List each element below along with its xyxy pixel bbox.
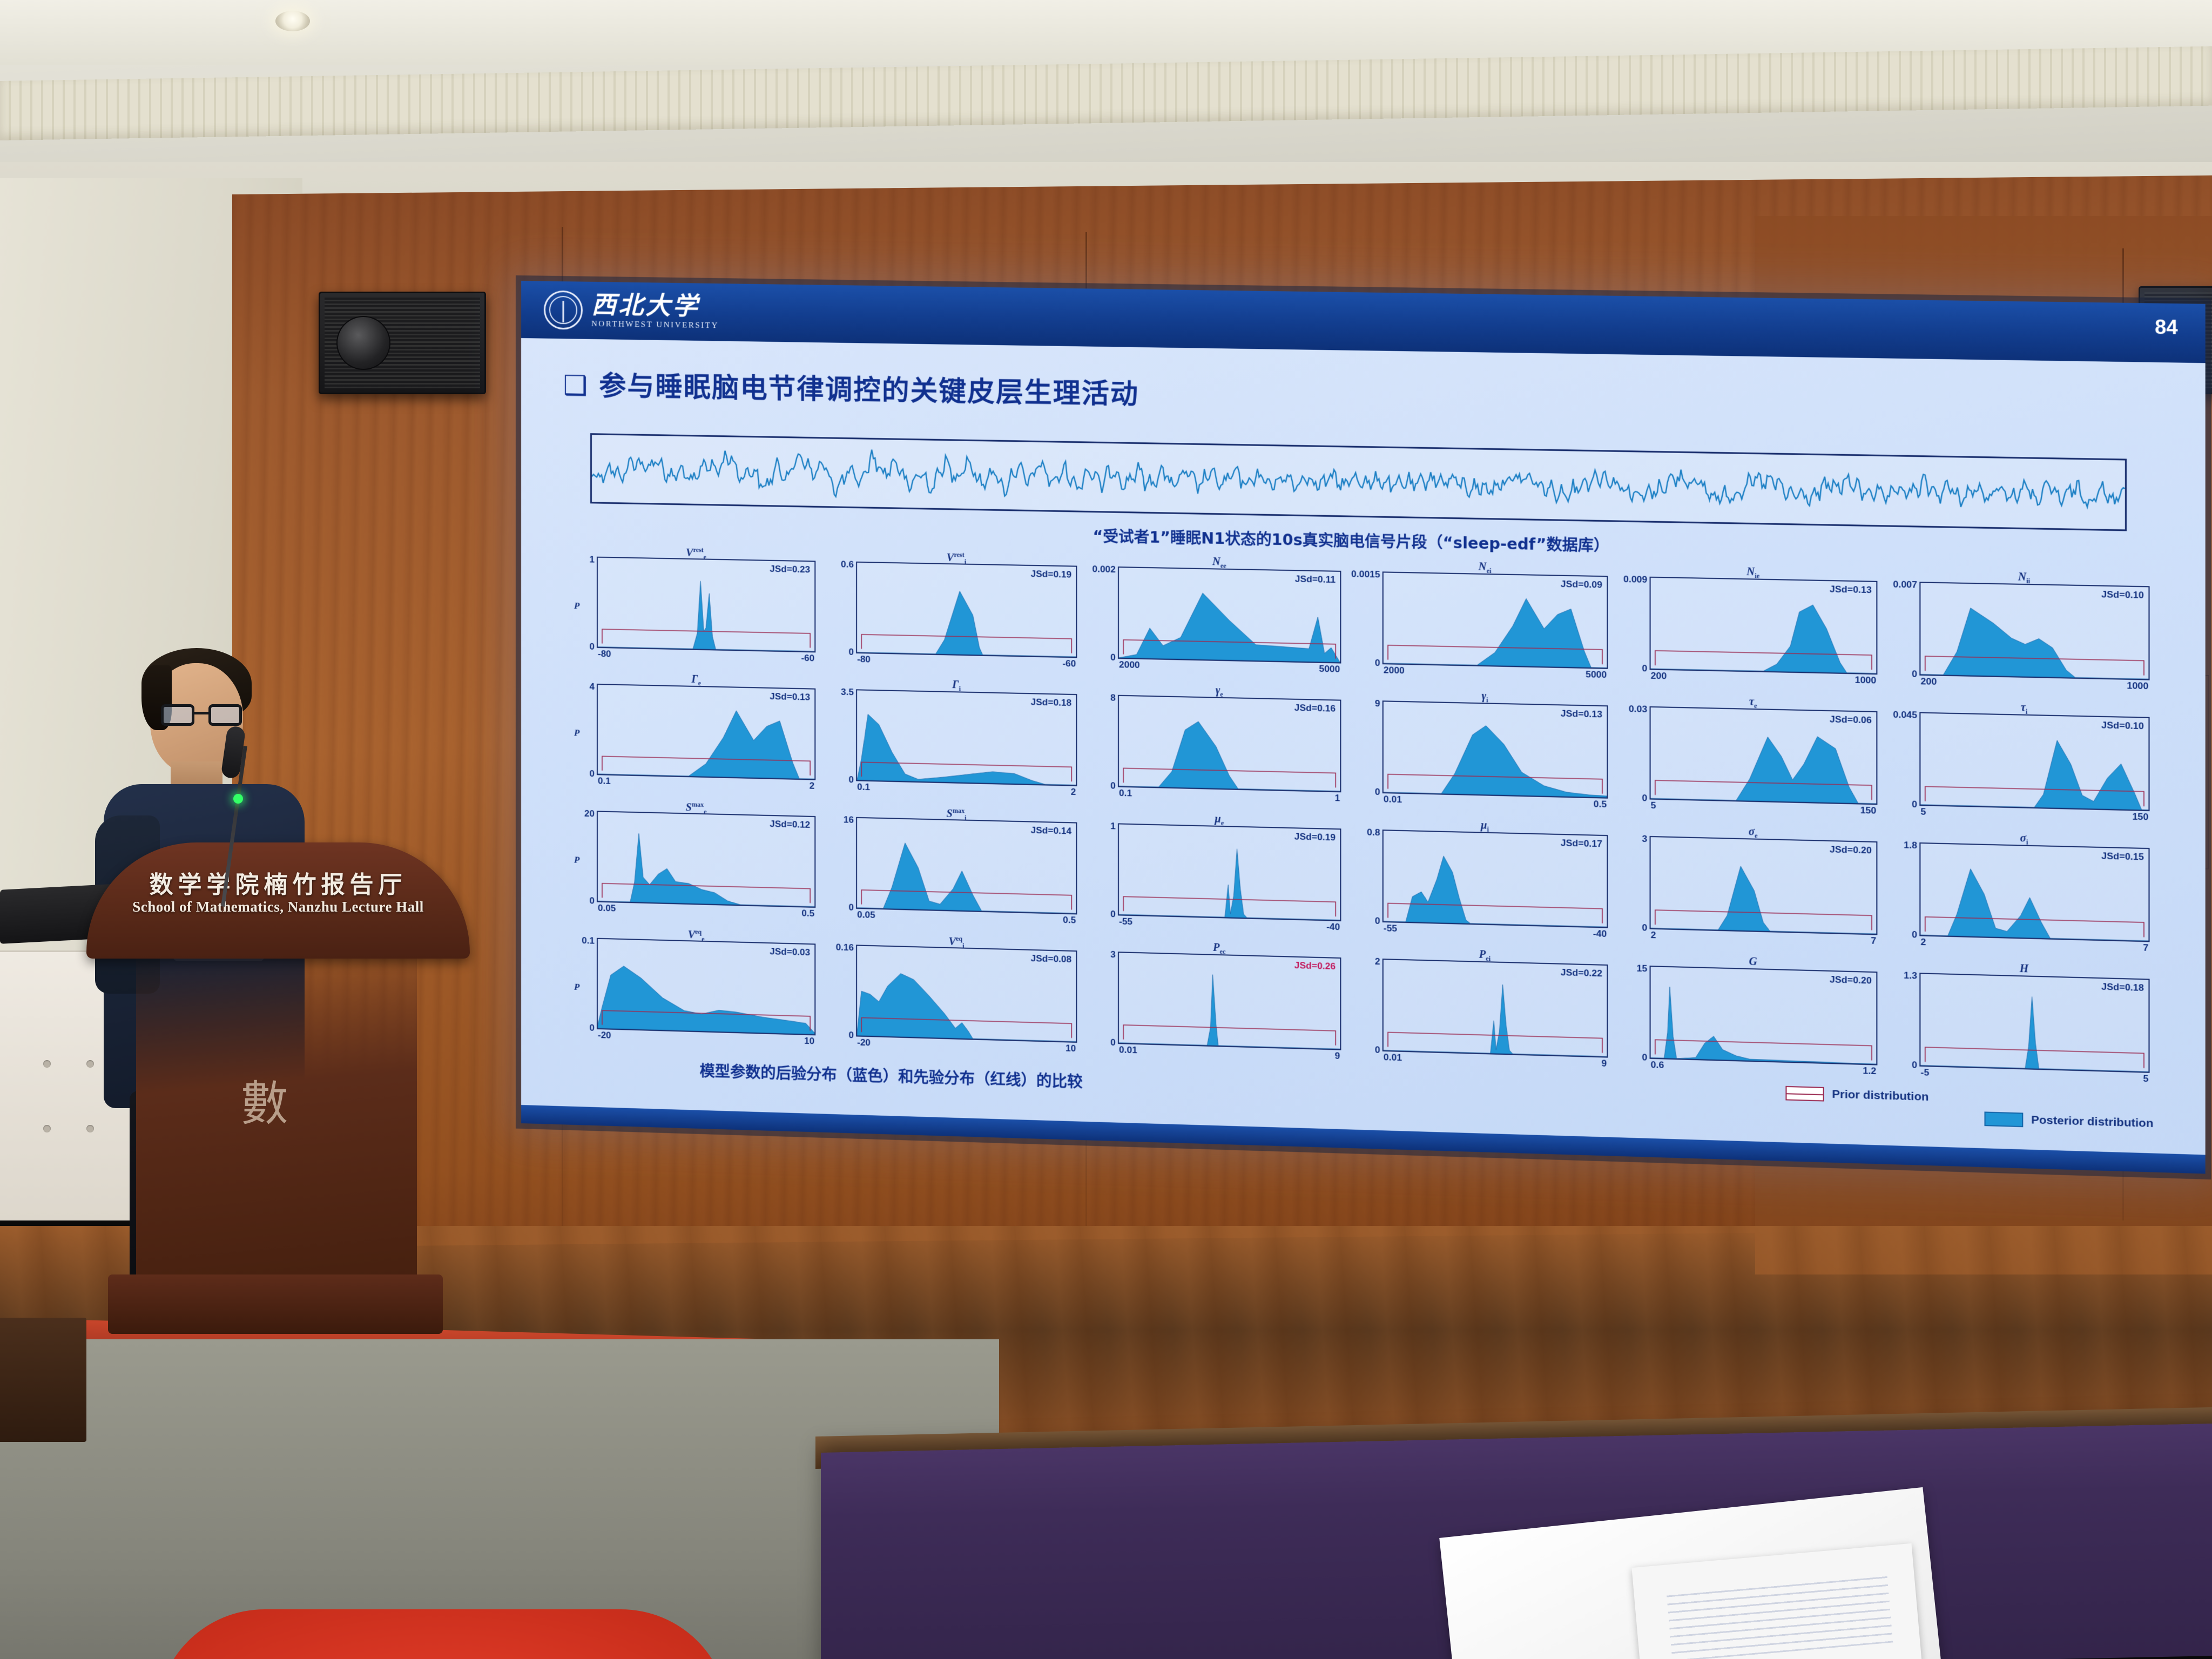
x-axis-max-tick: 7: [2143, 942, 2148, 954]
x-axis-min-tick: 5: [1920, 806, 1926, 818]
x-axis-min-tick: -80: [598, 649, 611, 660]
jsd-value: JSd=0.19: [1031, 569, 1072, 581]
y-axis-max-tick: 0.0015: [1351, 569, 1380, 580]
y-axis-min-tick: 0: [1642, 663, 1647, 675]
y-axis-min-tick: 0: [590, 1023, 595, 1034]
prior-swatch-icon: [1785, 1086, 1824, 1102]
y-axis-max-tick: 15: [1637, 963, 1648, 974]
x-axis-max-tick: 0.5: [1594, 799, 1607, 810]
podium-base: [108, 1274, 443, 1334]
x-axis-min-tick: 2: [1920, 937, 1926, 948]
distribution-panel: NeeJSd=0.110.002020005000: [1094, 554, 1346, 682]
university-name-en: NORTHWEST UNIVERSITY: [591, 320, 719, 331]
panel-axes: JSd=0.100.00702001000: [1919, 582, 2149, 680]
y-axis-max-tick: 0.045: [1893, 709, 1917, 720]
distribution-panel: μeJSd=0.1910-55-40: [1094, 811, 1346, 940]
panel-axes: JSd=0.13400.12: [597, 684, 815, 780]
y-axis-min-tick: 0: [848, 1030, 854, 1041]
jsd-value: JSd=0.06: [1830, 714, 1872, 726]
university-seal-icon: [544, 291, 583, 330]
x-axis-min-tick: 200: [1920, 676, 1937, 687]
distribution-panel: NiiJSd=0.100.00702001000: [1894, 569, 2154, 699]
x-axis-min-tick: -55: [1384, 923, 1397, 934]
x-axis-max-tick: 1000: [1855, 675, 1877, 686]
y-axis-min-tick: 0: [848, 647, 854, 658]
y-axis-min-tick: 0: [1912, 799, 1917, 810]
x-axis-max-tick: 150: [1860, 805, 1877, 817]
x-axis-max-tick: 1: [1335, 793, 1340, 804]
jsd-value: JSd=0.15: [2101, 851, 2144, 863]
jsd-value: JSd=0.19: [1294, 831, 1336, 843]
y-axis-min-tick: 0: [1642, 1052, 1647, 1063]
panel-axes: JSd=0.190.60-80-60: [856, 562, 1077, 658]
glasses-lens-right: [208, 704, 242, 726]
panel-axes: JSd=0.201500.61.2: [1650, 966, 1878, 1065]
distribution-panel: VeqePJSd=0.030.10-2010: [573, 926, 820, 1054]
panel-axes: JSd=0.183.500.12: [856, 689, 1077, 786]
y-axis-max-tick: 1: [590, 554, 595, 565]
x-axis-min-tick: 0.01: [1384, 794, 1402, 805]
speaker-cone: [336, 316, 390, 370]
distribution-panel: SmaxiJSd=0.141600.050.5: [832, 805, 1082, 933]
y-axis-max-tick: 9: [1375, 698, 1380, 710]
panel-axes: JSd=0.181.30-55: [1919, 973, 2149, 1073]
jsd-value: JSd=0.03: [770, 946, 810, 958]
presenter-glasses: [161, 704, 242, 726]
podium-emblem: 數: [211, 1080, 319, 1188]
distribution-panel: τeJSd=0.060.0305150: [1625, 693, 1882, 824]
y-axis-min-tick: 0: [1912, 1060, 1917, 1071]
legend-posterior: Posterior distribution: [1985, 1111, 2154, 1131]
jsd-value: JSd=0.20: [1830, 844, 1872, 856]
panel-axes: JSd=0.030.10-2010: [597, 938, 815, 1036]
posterior-swatch-icon: [1985, 1111, 2024, 1127]
panel-axes: JSd=0.16800.11: [1118, 695, 1341, 793]
university-logo: 西北大学 NORTHWEST UNIVERSITY: [544, 291, 719, 332]
distribution-panel: ΓiJSd=0.183.500.12: [832, 677, 1082, 805]
y-axis-min-tick: 0: [1375, 915, 1380, 927]
panel-axes: JSd=0.110.002020005000: [1118, 567, 1341, 664]
x-axis-max-tick: 1.2: [1863, 1065, 1876, 1077]
jsd-value: JSd=0.08: [1031, 953, 1072, 965]
distribution-panel: γeJSd=0.16800.11: [1094, 683, 1346, 811]
jsd-value: JSd=0.09: [1561, 579, 1602, 591]
y-axis-max-tick: 0.002: [1092, 564, 1115, 575]
y-axis-max-tick: 3: [1110, 949, 1116, 960]
x-axis-min-tick: 2: [1651, 930, 1656, 941]
y-axis-min-tick: 0: [1110, 780, 1116, 791]
podium-name-cn: 数学学院楠竹报告厅: [86, 865, 470, 900]
distribution-panel: GJSd=0.201500.61.2: [1625, 953, 1882, 1084]
distribution-panel: VeqiJSd=0.080.160-2010: [832, 932, 1082, 1062]
distribution-panel: σeJSd=0.203027: [1625, 823, 1882, 954]
y-axis-min-tick: 0: [848, 774, 854, 785]
x-axis-max-tick: 1000: [2127, 680, 2148, 692]
panel-axes: JSd=0.122000.050.5: [597, 811, 815, 908]
y-axis-max-tick: 0.16: [836, 942, 854, 953]
distribution-panel: PeiJSd=0.22200.019: [1358, 946, 1612, 1076]
y-axis-max-tick: 0.6: [841, 559, 854, 570]
podium: 数学学院楠竹报告厅 School of Mathematics, Nanzhu …: [86, 842, 470, 1328]
x-axis-min-tick: 2000: [1119, 659, 1140, 671]
x-axis-max-tick: 0.5: [801, 908, 814, 919]
y-axis-min-tick: 0: [1110, 652, 1116, 663]
glasses-lens-left: [161, 704, 194, 726]
x-axis-max-tick: 5: [2143, 1073, 2148, 1084]
x-axis-min-tick: 0.6: [1651, 1060, 1664, 1071]
jsd-value: JSd=0.18: [2101, 981, 2144, 994]
y-axis-min-tick: 0: [848, 902, 854, 913]
panel-axes: JSd=0.060.0305150: [1650, 706, 1878, 805]
x-axis-max-tick: 9: [1601, 1058, 1607, 1069]
legend-prior-label: Prior distribution: [1832, 1088, 1928, 1104]
x-axis-max-tick: 150: [2132, 811, 2148, 822]
y-axis-min-tick: 0: [1642, 922, 1647, 934]
panel-axes: JSd=0.13900.010.5: [1382, 700, 1608, 799]
panel-axes: JSd=0.100.04505150: [1919, 712, 2149, 811]
x-axis-min-tick: 0.05: [598, 903, 616, 914]
panel-axes: JSd=0.151.8027: [1919, 842, 2149, 942]
distribution-panel: VrestePJSd=0.2310-80-60: [573, 544, 820, 671]
glasses-bridge: [194, 712, 208, 714]
y-axis-min-tick: 0: [1375, 658, 1380, 669]
panel-axes: JSd=0.1910-55-40: [1118, 823, 1341, 921]
distribution-panel: σiJSd=0.151.8027: [1894, 829, 2154, 961]
paper-printed-lines: [1667, 1573, 1893, 1659]
panel-axes: JSd=0.2310-80-60: [597, 557, 815, 653]
distribution-panel: NeiJSd=0.090.0015020005000: [1358, 559, 1612, 688]
x-axis-max-tick: 9: [1335, 1050, 1340, 1062]
distribution-panel: HJSd=0.181.30-55: [1894, 960, 2154, 1092]
x-axis-min-tick: -55: [1119, 916, 1132, 927]
axis-label-p: P: [574, 854, 579, 865]
y-axis-max-tick: 0.8: [1367, 827, 1380, 838]
y-axis-min-tick: 0: [1110, 1037, 1116, 1049]
distribution-panel: μiJSd=0.170.80-55-40: [1358, 817, 1612, 947]
x-axis-max-tick: 7: [1871, 935, 1876, 947]
x-axis-min-tick: -80: [857, 654, 871, 665]
x-axis-min-tick: 0.01: [1384, 1052, 1402, 1063]
cabinet-vent-hole: [43, 1060, 51, 1068]
cabinet-vent-hole: [43, 1125, 51, 1132]
podium-nameplate: 数学学院楠竹报告厅 School of Mathematics, Nanzhu …: [86, 842, 470, 959]
panel-axes: JSd=0.170.80-55-40: [1382, 829, 1608, 928]
x-axis-max-tick: 10: [804, 1036, 814, 1047]
distribution-panel: τiJSd=0.100.04505150: [1894, 699, 2154, 830]
distribution-panel: ΓePJSd=0.13400.12: [573, 671, 820, 799]
jsd-value: JSd=0.12: [770, 819, 810, 831]
y-axis-min-tick: 0: [1375, 787, 1380, 798]
x-axis-max-tick: 0.5: [1063, 915, 1076, 926]
axis-label-p: P: [574, 727, 579, 738]
distribution-panel: SmaxePJSd=0.122000.050.5: [573, 798, 820, 926]
jsd-value: JSd=0.26: [1294, 960, 1336, 972]
jsd-value: JSd=0.18: [1031, 697, 1072, 709]
panel-axes: JSd=0.080.160-2010: [856, 945, 1077, 1043]
jsd-value: JSd=0.17: [1561, 838, 1602, 849]
x-axis-max-tick: 5000: [1319, 664, 1340, 675]
ceiling-light: [275, 11, 310, 31]
bottom-caption: 模型参数的后验分布（蓝色）和先验分布（红线）的比较: [700, 1059, 1083, 1092]
jsd-value: JSd=0.10: [2101, 720, 2144, 732]
y-axis-max-tick: 3: [1642, 834, 1647, 845]
y-axis-max-tick: 1: [1110, 821, 1116, 832]
y-axis-max-tick: 8: [1110, 692, 1116, 703]
y-axis-min-tick: 0: [1642, 793, 1647, 804]
jsd-value: JSd=0.22: [1561, 967, 1602, 979]
panel-axes: JSd=0.26300.019: [1118, 952, 1341, 1050]
y-axis-min-tick: 0: [590, 768, 595, 779]
jsd-value: JSd=0.14: [1031, 825, 1072, 837]
y-axis-max-tick: 20: [584, 808, 595, 819]
x-axis-min-tick: 0.1: [857, 781, 870, 793]
axis-label-p: P: [574, 600, 579, 611]
y-axis-max-tick: 3.5: [841, 687, 854, 698]
slide-page-number: 84: [2155, 315, 2178, 339]
speaker-left: [319, 292, 486, 394]
panel-axes: JSd=0.203027: [1650, 836, 1878, 935]
y-axis-min-tick: 0: [1375, 1044, 1380, 1056]
y-axis-min-tick: 0: [590, 642, 595, 652]
panel-axes: JSd=0.141600.050.5: [856, 817, 1077, 915]
x-axis-min-tick: -20: [598, 1030, 611, 1041]
eeg-waveform: [592, 435, 2125, 529]
x-axis-min-tick: -5: [1920, 1067, 1929, 1078]
y-axis-max-tick: 2: [1375, 956, 1380, 968]
y-axis-min-tick: 0: [1110, 909, 1116, 920]
jsd-value: JSd=0.11: [1295, 574, 1336, 585]
x-axis-max-tick: 2: [1071, 787, 1076, 798]
x-axis-min-tick: 0.01: [1119, 1044, 1137, 1056]
projection-screen[interactable]: 西北大学 NORTHWEST UNIVERSITY 84 ❑ 参与睡眠脑电节律调…: [521, 281, 2206, 1174]
panel-axes: JSd=0.130.00902001000: [1650, 577, 1878, 675]
podium-name-en: School of Mathematics, Nanzhu Lecture Ha…: [86, 899, 470, 915]
legend-prior: Prior distribution: [1785, 1086, 1928, 1104]
eeg-signal-panel: [590, 433, 2127, 531]
x-axis-max-tick: 2: [810, 780, 815, 791]
x-axis-max-tick: -60: [1062, 658, 1076, 670]
jsd-value: JSd=0.13: [1561, 708, 1602, 720]
red-chair-back: [157, 1609, 729, 1659]
jsd-value: JSd=0.16: [1294, 703, 1336, 714]
y-axis-max-tick: 0.1: [582, 935, 595, 947]
y-axis-max-tick: 1.3: [1904, 970, 1917, 981]
jsd-value: JSd=0.20: [1830, 974, 1872, 987]
legend-posterior-label: Posterior distribution: [2031, 1114, 2153, 1130]
y-axis-max-tick: 0.009: [1623, 574, 1647, 585]
y-axis-max-tick: 16: [844, 814, 854, 826]
distribution-panel: VrestiJSd=0.190.60-80-60: [832, 549, 1082, 677]
slide-title: ❑ 参与睡眠脑电节律调控的关键皮层生理活动: [563, 363, 1139, 412]
x-axis-min-tick: 2000: [1384, 665, 1405, 676]
microphone-led-indicator: [233, 794, 243, 804]
presentation-slide: 西北大学 NORTHWEST UNIVERSITY 84 ❑ 参与睡眠脑电节律调…: [521, 281, 2206, 1174]
axis-label-p: P: [574, 981, 579, 992]
side-desk: [0, 1318, 86, 1442]
x-axis-max-tick: -60: [801, 653, 814, 664]
x-axis-min-tick: 200: [1651, 670, 1667, 682]
y-axis-min-tick: 0: [1912, 929, 1917, 941]
panel-axes: JSd=0.22200.019: [1382, 959, 1608, 1058]
university-name-cn: 西北大学: [591, 292, 719, 319]
panel-axes: JSd=0.090.0015020005000: [1382, 571, 1608, 669]
x-axis-min-tick: 5: [1651, 800, 1656, 812]
jsd-value: JSd=0.23: [770, 564, 810, 576]
jsd-value: JSd=0.10: [2101, 589, 2144, 601]
jsd-value: JSd=0.13: [770, 691, 810, 703]
x-axis-max-tick: -40: [1593, 928, 1607, 940]
y-axis-max-tick: 4: [590, 682, 595, 692]
x-axis-max-tick: -40: [1326, 921, 1340, 933]
distribution-panel: γiJSd=0.13900.010.5: [1358, 688, 1612, 818]
distribution-panel: NieJSd=0.130.00902001000: [1625, 564, 1882, 693]
x-axis-max-tick: 5000: [1586, 669, 1607, 680]
x-axis-min-tick: 0.1: [598, 775, 611, 787]
x-axis-min-tick: -20: [857, 1037, 871, 1049]
distribution-panel: PecJSd=0.26300.019: [1094, 939, 1346, 1069]
y-axis-min-tick: 0: [1912, 669, 1917, 680]
y-axis-max-tick: 1.8: [1904, 840, 1917, 851]
y-axis-min-tick: 0: [590, 895, 595, 906]
parameter-distribution-grid: VrestePJSd=0.2310-80-60VrestiJSd=0.190.6…: [573, 544, 2154, 1092]
jsd-value: JSd=0.13: [1830, 584, 1872, 596]
x-axis-min-tick: 0.05: [857, 909, 875, 921]
y-axis-max-tick: 0.03: [1629, 704, 1647, 715]
x-axis-max-tick: 10: [1065, 1043, 1076, 1054]
y-axis-max-tick: 0.007: [1893, 579, 1917, 590]
x-axis-min-tick: 0.1: [1119, 788, 1132, 799]
